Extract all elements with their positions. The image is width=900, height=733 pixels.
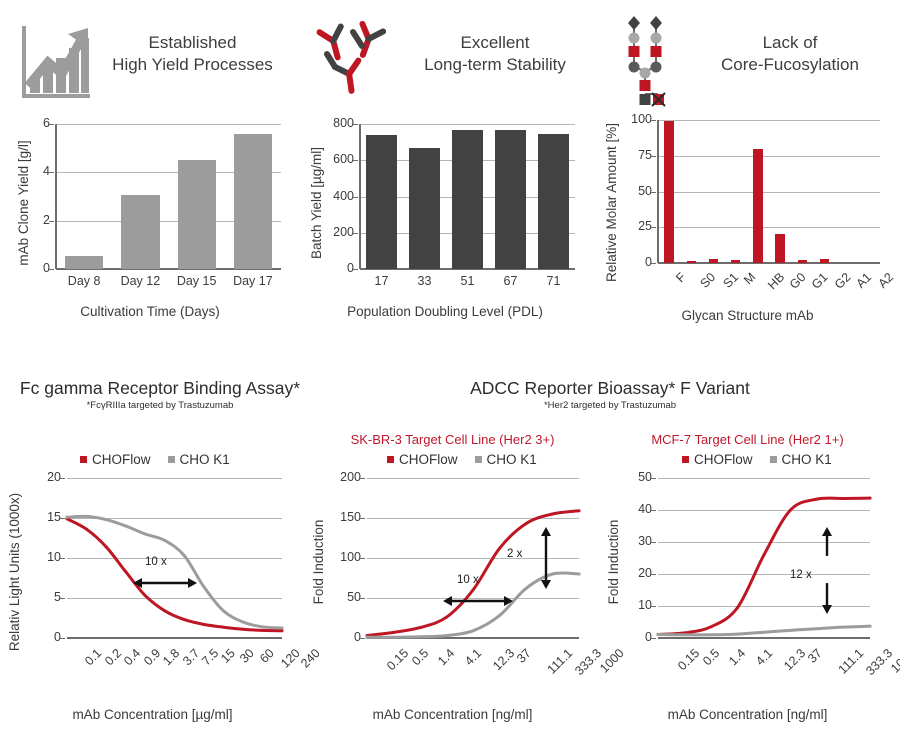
y-tick-mark bbox=[651, 510, 656, 511]
y-axis-line bbox=[55, 124, 57, 269]
data-point bbox=[281, 630, 284, 633]
x-tick-label: Day 12 bbox=[112, 274, 168, 288]
data-point bbox=[66, 516, 69, 519]
section-title-fc: Fc gamma Receptor Binding Assay* bbox=[0, 378, 320, 399]
x-tick-label: 0.15 bbox=[384, 646, 411, 673]
data-point bbox=[85, 515, 88, 518]
chart-glycan-structure: Relative Molar Amount [%] 0255075100FS0S… bbox=[600, 112, 895, 337]
data-point bbox=[392, 631, 395, 634]
data-point bbox=[657, 633, 660, 636]
chart1-xlabel: Cultivation Time (Days) bbox=[10, 304, 290, 319]
data-point bbox=[203, 586, 206, 589]
y-tick-label: 0 bbox=[23, 630, 61, 644]
bar bbox=[775, 234, 784, 263]
x-tick-label: 71 bbox=[532, 274, 575, 288]
y-tick-label: 15 bbox=[23, 510, 61, 524]
y-tick-mark bbox=[353, 160, 358, 161]
chart-title-skbr3: SK-BR-3 Target Cell Line (Her2 3+) bbox=[305, 432, 600, 447]
y-tick-label: 800 bbox=[318, 116, 354, 130]
data-point bbox=[163, 610, 166, 613]
y-tick-label: 50 bbox=[323, 590, 361, 604]
data-point bbox=[242, 621, 245, 624]
bar bbox=[753, 149, 762, 263]
bar bbox=[452, 130, 482, 269]
y-tick-label: 400 bbox=[318, 189, 354, 203]
section-title-adcc: ADCC Reporter Bioassay* F Variant bbox=[330, 378, 890, 399]
y-tick-label: 0 bbox=[14, 261, 50, 275]
bar bbox=[121, 195, 159, 269]
x-tick-label: 1.4 bbox=[435, 646, 457, 668]
data-point bbox=[203, 623, 206, 626]
data-point bbox=[183, 618, 186, 621]
data-point bbox=[789, 629, 792, 632]
double-arrow-vertical bbox=[818, 527, 836, 616]
legend-label-chok1: CHO K1 bbox=[782, 452, 832, 467]
chart-title-mcf7: MCF-7 Target Cell Line (Her2 1+) bbox=[600, 432, 895, 447]
data-point bbox=[525, 587, 528, 590]
y-tick-mark bbox=[651, 156, 656, 157]
data-point bbox=[498, 547, 501, 550]
x-tick-label: G0 bbox=[787, 270, 809, 292]
x-tick-label: 51 bbox=[446, 274, 489, 288]
x-tick-label: 12.3 bbox=[490, 646, 517, 673]
legend-mcf7: CHOFlow CHO K1 bbox=[682, 452, 832, 467]
antibodies-icon bbox=[313, 18, 395, 100]
x-tick-label: Day 8 bbox=[56, 274, 112, 288]
y-tick-mark bbox=[49, 172, 54, 173]
legend-fc: CHOFlow CHO K1 bbox=[80, 452, 230, 467]
data-point bbox=[242, 628, 245, 631]
bar bbox=[65, 256, 103, 269]
double-arrow-horizontal bbox=[133, 574, 199, 592]
y-tick-mark bbox=[651, 606, 656, 607]
panel-title-1-line1: Established bbox=[95, 32, 290, 54]
legend-item-chok1: CHO K1 bbox=[770, 452, 832, 467]
series-cho-k1 bbox=[658, 626, 870, 635]
chart-fc-gamma-receptor-binding: CHOFlow CHO K1 Relativ Light Units (1000… bbox=[5, 452, 300, 733]
data-point bbox=[525, 522, 528, 525]
chart4-ylabel: Relativ Light Units (1000x) bbox=[7, 492, 22, 652]
x-tick-label: Day 15 bbox=[169, 274, 225, 288]
y-tick-label: 6 bbox=[14, 116, 50, 130]
y-tick-mark bbox=[49, 124, 54, 125]
y-tick-label: 4 bbox=[14, 164, 50, 178]
legend-label-chok1: CHO K1 bbox=[180, 452, 230, 467]
data-point bbox=[144, 594, 147, 597]
y-tick-label: 10 bbox=[614, 598, 652, 612]
y-tick-label: 40 bbox=[614, 502, 652, 516]
y-tick-label: 30 bbox=[614, 534, 652, 548]
y-tick-mark bbox=[651, 120, 656, 121]
annotation-label: 10 x bbox=[145, 556, 167, 568]
x-tick-label: 0.1 bbox=[82, 646, 104, 668]
data-point bbox=[472, 589, 475, 592]
y-tick-label: 50 bbox=[616, 184, 652, 198]
y-axis-line bbox=[657, 120, 659, 263]
panel-title-3-line2: Core-Fucosylation bbox=[690, 54, 890, 76]
bar bbox=[234, 134, 272, 269]
y-axis-line bbox=[359, 124, 361, 269]
data-point bbox=[472, 630, 475, 633]
legend-label-choflow: CHOFlow bbox=[92, 452, 151, 467]
series-cho-k1 bbox=[67, 516, 282, 628]
data-point bbox=[419, 636, 422, 639]
y-tick-mark bbox=[60, 638, 65, 639]
legend-item-chok1: CHO K1 bbox=[475, 452, 537, 467]
x-tick-label: 0.4 bbox=[121, 646, 143, 668]
data-point bbox=[710, 626, 713, 629]
y-tick-label: 5 bbox=[23, 590, 61, 604]
chart-mab-clone-yield: mAb Clone Yield [g/l] 0246Day 8Day 12Day… bbox=[10, 118, 290, 333]
x-tick-label: 1.8 bbox=[160, 646, 182, 668]
x-tick-label: 4.1 bbox=[462, 646, 484, 668]
x-tick-label: M bbox=[741, 270, 758, 287]
bar bbox=[820, 259, 829, 263]
bar bbox=[366, 135, 396, 269]
data-point bbox=[183, 554, 186, 557]
y-tick-mark bbox=[353, 269, 358, 270]
chart2-xlabel: Population Doubling Level (PDL) bbox=[305, 304, 585, 319]
y-tick-label: 0 bbox=[616, 255, 652, 269]
x-tick-label: 15 bbox=[218, 646, 238, 666]
y-tick-label: 0 bbox=[614, 630, 652, 644]
section-subtitle-fc: *FcγRIIIa targeted by Trastuzumab bbox=[0, 400, 320, 411]
y-tick-label: 20 bbox=[614, 566, 652, 580]
legend-label-chok1: CHO K1 bbox=[487, 452, 537, 467]
data-point bbox=[261, 629, 264, 632]
y-tick-label: 600 bbox=[318, 152, 354, 166]
legend-swatch-choflow bbox=[80, 456, 87, 463]
bar bbox=[731, 260, 740, 263]
y-tick-mark bbox=[360, 558, 365, 559]
gridline bbox=[658, 156, 880, 157]
y-tick-mark bbox=[651, 638, 656, 639]
y-tick-label: 200 bbox=[323, 470, 361, 484]
data-point bbox=[222, 626, 225, 629]
y-tick-mark bbox=[49, 221, 54, 222]
data-point bbox=[842, 626, 845, 629]
glycan-structure-icon bbox=[622, 14, 684, 104]
x-tick-label: G1 bbox=[809, 270, 831, 292]
x-tick-label: A2 bbox=[875, 270, 896, 291]
y-tick-mark bbox=[360, 638, 365, 639]
data-point bbox=[419, 626, 422, 629]
y-tick-mark bbox=[651, 227, 656, 228]
y-tick-mark bbox=[353, 233, 358, 234]
data-point bbox=[105, 546, 108, 549]
x-tick-label: 0.5 bbox=[700, 646, 722, 668]
panel-title-1-line2: High Yield Processes bbox=[95, 54, 290, 76]
chart-adcc-mcf7: CHOFlow CHO K1 Fold Induction 0102030405… bbox=[600, 452, 895, 733]
y-tick-mark bbox=[60, 518, 65, 519]
line-plot-area bbox=[67, 478, 282, 638]
y-tick-label: 10 bbox=[23, 550, 61, 564]
x-tick-label: Day 17 bbox=[225, 274, 281, 288]
y-tick-mark bbox=[353, 197, 358, 198]
y-tick-mark bbox=[651, 542, 656, 543]
y-tick-label: 150 bbox=[323, 510, 361, 524]
x-tick-label: 17 bbox=[360, 274, 403, 288]
y-tick-label: 100 bbox=[616, 112, 652, 126]
x-tick-label: A1 bbox=[853, 270, 874, 291]
line-plot-area bbox=[658, 478, 870, 638]
data-point bbox=[683, 634, 686, 637]
legend-swatch-chok1 bbox=[168, 456, 175, 463]
y-tick-mark bbox=[49, 269, 54, 270]
data-point bbox=[816, 627, 819, 630]
bar bbox=[687, 261, 696, 263]
y-tick-mark bbox=[651, 574, 656, 575]
y-tick-label: 50 bbox=[614, 470, 652, 484]
x-tick-label: 0.15 bbox=[675, 646, 702, 673]
data-point bbox=[816, 498, 819, 501]
y-tick-mark bbox=[360, 478, 365, 479]
data-point bbox=[124, 525, 127, 528]
y-tick-mark bbox=[360, 518, 365, 519]
data-point bbox=[578, 573, 581, 576]
double-arrow-horizontal bbox=[443, 592, 515, 610]
legend-swatch-choflow bbox=[387, 456, 394, 463]
data-point bbox=[869, 625, 872, 628]
x-tick-label: 111.1 bbox=[836, 646, 867, 677]
bar bbox=[495, 130, 525, 269]
chart2-ylabel: Batch Yield [µg/ml] bbox=[309, 128, 325, 278]
x-tick-label: 67 bbox=[489, 274, 532, 288]
legend-item-choflow: CHOFlow bbox=[682, 452, 753, 467]
bar bbox=[709, 259, 718, 263]
panel-title-3-line1: Lack of bbox=[690, 32, 890, 54]
data-point bbox=[392, 636, 395, 639]
legend-label-choflow: CHOFlow bbox=[399, 452, 458, 467]
bar bbox=[409, 148, 439, 269]
chart4-xlabel: mAb Concentration [µg/ml] bbox=[5, 707, 300, 722]
gridline bbox=[658, 192, 880, 193]
x-tick-label: 60 bbox=[257, 646, 277, 666]
data-point bbox=[124, 570, 127, 573]
bar bbox=[538, 134, 568, 269]
bar-chart-growth-icon bbox=[18, 22, 94, 102]
x-tick-label: 111.1 bbox=[545, 646, 576, 677]
data-point bbox=[445, 634, 448, 637]
y-tick-label: 2 bbox=[14, 213, 50, 227]
data-point bbox=[710, 634, 713, 637]
data-point bbox=[163, 539, 166, 542]
x-tick-label: 30 bbox=[237, 646, 257, 666]
bar bbox=[798, 260, 807, 263]
gridline bbox=[658, 227, 880, 228]
y-tick-mark bbox=[651, 478, 656, 479]
gridline bbox=[56, 124, 281, 125]
y-tick-mark bbox=[651, 192, 656, 193]
legend-item-choflow: CHOFlow bbox=[80, 452, 151, 467]
legend-item-choflow: CHOFlow bbox=[387, 452, 458, 467]
data-point bbox=[85, 528, 88, 531]
data-point bbox=[498, 614, 501, 617]
data-point bbox=[261, 626, 264, 629]
data-point bbox=[842, 497, 845, 500]
x-tick-label: HB bbox=[765, 270, 787, 292]
bar bbox=[664, 121, 673, 263]
y-tick-label: 0 bbox=[323, 630, 361, 644]
data-point bbox=[281, 627, 284, 630]
panel-title-2-line2: Long-term Stability bbox=[400, 54, 590, 76]
legend-label-choflow: CHOFlow bbox=[694, 452, 753, 467]
x-tick-label: F bbox=[673, 270, 688, 285]
y-tick-mark bbox=[60, 598, 65, 599]
data-point bbox=[366, 636, 369, 639]
x-tick-label: G2 bbox=[831, 270, 853, 292]
x-tick-label: 37 bbox=[805, 646, 825, 666]
x-tick-label: 37 bbox=[514, 646, 534, 666]
x-tick-label: 7.5 bbox=[199, 646, 221, 668]
data-point bbox=[789, 509, 792, 512]
series-choflow bbox=[658, 498, 870, 634]
y-tick-label: 100 bbox=[323, 550, 361, 564]
chart6-xlabel: mAb Concentration [ng/ml] bbox=[600, 707, 895, 722]
chart1-ylabel: mAb Clone Yield [g/l] bbox=[16, 128, 32, 278]
gridline bbox=[360, 124, 575, 125]
y-tick-mark bbox=[60, 558, 65, 559]
legend-swatch-chok1 bbox=[770, 456, 777, 463]
y-tick-label: 75 bbox=[616, 148, 652, 162]
legend-skbr3: CHOFlow CHO K1 bbox=[387, 452, 537, 467]
data-point bbox=[869, 497, 872, 500]
data-point bbox=[551, 513, 554, 516]
annotation-label: 10 x bbox=[457, 574, 479, 586]
chart5-xlabel: mAb Concentration [ng/ml] bbox=[305, 707, 600, 722]
chart-adcc-skbr3: CHOFlow CHO K1 Fold Induction 0501001502… bbox=[305, 452, 600, 733]
data-point bbox=[763, 554, 766, 557]
data-point bbox=[578, 510, 581, 513]
data-point bbox=[222, 610, 225, 613]
chart4-ylabel-text: Relativ Light Units (1000x) bbox=[7, 493, 22, 651]
y-tick-mark bbox=[60, 478, 65, 479]
x-tick-label: 0.5 bbox=[409, 646, 431, 668]
y-tick-mark bbox=[651, 263, 656, 264]
section-subtitle-adcc: *Her2 targeted by Trastuzumab bbox=[330, 400, 890, 411]
chart3-xlabel: Glycan Structure mAb bbox=[600, 308, 895, 323]
x-tick-label: 4.1 bbox=[753, 646, 775, 668]
bar bbox=[178, 160, 216, 269]
y-tick-mark bbox=[353, 124, 358, 125]
data-point bbox=[736, 606, 739, 609]
chart-batch-yield: Batch Yield [µg/ml] 02004006008001733516… bbox=[305, 118, 585, 333]
data-point bbox=[763, 631, 766, 634]
y-tick-label: 25 bbox=[616, 219, 652, 233]
x-tick-label: 1.4 bbox=[726, 646, 748, 668]
annotation-label: 12 x bbox=[790, 569, 812, 581]
panel-title-3: Lack of Core-Fucosylation bbox=[690, 32, 890, 76]
y-tick-label: 20 bbox=[23, 470, 61, 484]
panel-title-2: Excellent Long-term Stability bbox=[400, 32, 590, 76]
gridline bbox=[658, 120, 880, 121]
data-point bbox=[736, 633, 739, 636]
x-tick-label: 33 bbox=[403, 274, 446, 288]
panel-title-1: Established High Yield Processes bbox=[95, 32, 290, 76]
y-tick-label: 0 bbox=[318, 261, 354, 275]
legend-swatch-choflow bbox=[682, 456, 689, 463]
data-point bbox=[144, 533, 147, 536]
double-arrow-vertical bbox=[537, 527, 555, 591]
legend-item-chok1: CHO K1 bbox=[168, 452, 230, 467]
y-tick-label: 200 bbox=[318, 225, 354, 239]
data-point bbox=[105, 518, 108, 521]
annotation-label: 2 x bbox=[507, 548, 522, 560]
data-point bbox=[445, 616, 448, 619]
x-tick-label: S0 bbox=[698, 270, 719, 291]
y-tick-mark bbox=[360, 598, 365, 599]
panel-title-2-line1: Excellent bbox=[400, 32, 590, 54]
x-tick-label: 12.3 bbox=[781, 646, 808, 673]
x-tick-label: S1 bbox=[720, 270, 741, 291]
legend-swatch-chok1 bbox=[475, 456, 482, 463]
